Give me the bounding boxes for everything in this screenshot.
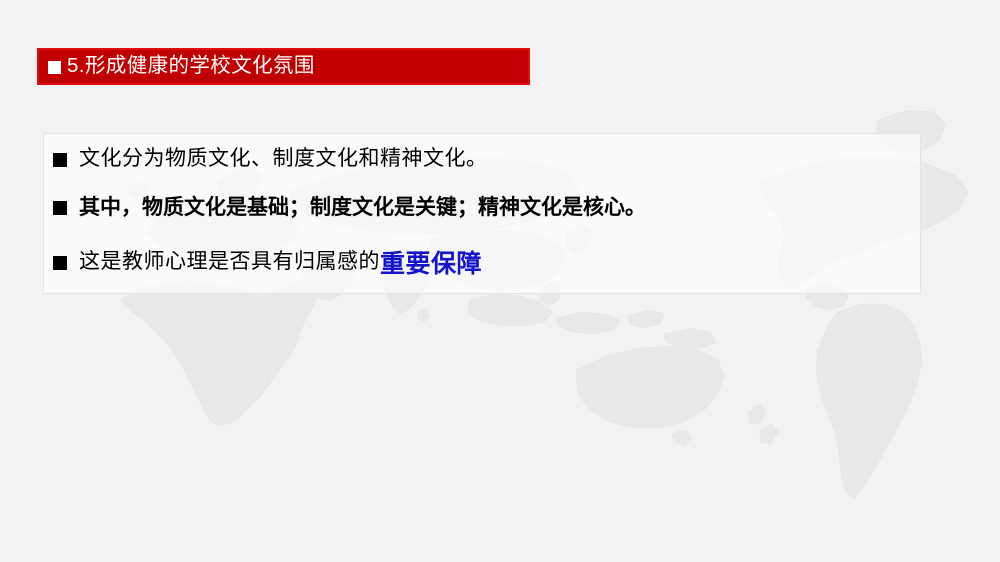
slide-title-banner: 5.形成健康的学校文化氛围 <box>37 48 530 85</box>
square-bullet-icon <box>53 201 67 215</box>
content-box: 文化分为物质文化、制度文化和精神文化。 其中，物质文化是基础；制度文化是关键；精… <box>43 133 921 294</box>
list-item: 其中，物质文化是基础；制度文化是关键；精神文化是核心。 <box>53 194 646 219</box>
bullet-text-2: 其中，物质文化是基础；制度文化是关键；精神文化是核心。 <box>79 194 646 219</box>
bullet-text-3: 这是教师心理是否具有归属感的 <box>79 249 380 274</box>
slide-canvas: 5.形成健康的学校文化氛围 文化分为物质文化、制度文化和精神文化。 其中，物质文… <box>0 0 1000 562</box>
page-title: 5.形成健康的学校文化氛围 <box>67 56 315 77</box>
bullet-text-1: 文化分为物质文化、制度文化和精神文化。 <box>79 146 488 171</box>
list-item: 这是教师心理是否具有归属感的 重要保障 <box>53 244 482 280</box>
square-bullet-icon <box>53 153 67 167</box>
square-bullet-icon <box>48 61 61 74</box>
list-item: 文化分为物质文化、制度文化和精神文化。 <box>53 146 488 171</box>
bullet-text-3-highlight: 重要保障 <box>380 244 482 280</box>
square-bullet-icon <box>53 256 67 270</box>
